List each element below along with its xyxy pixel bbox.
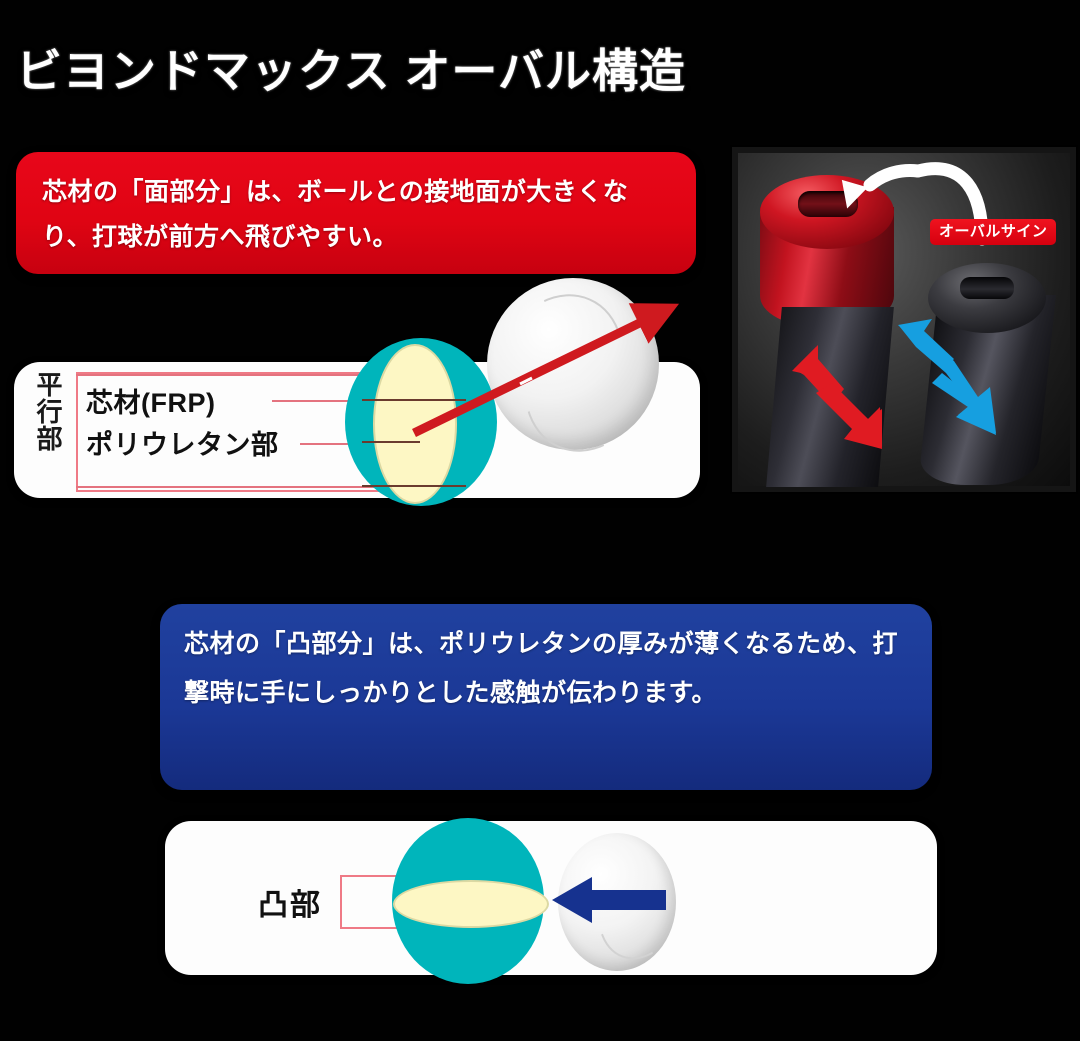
callout-convex-text: 芯材の「凸部分」は、ポリウレタンの厚みが薄くなるため、打撃時に手にしっかりとした… — [184, 620, 908, 718]
guide-tick-lower — [362, 485, 466, 487]
product-photo-panel: オーバルサイン — [732, 147, 1076, 492]
leader-line-bottom — [76, 486, 410, 488]
label-convex: 凸部 — [258, 880, 322, 924]
core-frp-ellipse-convex — [393, 880, 549, 928]
red-bat-oval-sign-slot — [798, 191, 858, 217]
callout-convex-section: 芯材の「凸部分」は、ポリウレタンの厚みが薄くなるため、打撃時に手にしっかりとした… — [160, 604, 932, 790]
label-polyurethane: ポリウレタン部 — [86, 423, 279, 462]
red-bat-shaft — [766, 307, 894, 487]
label-core-frp: 芯材(FRP) — [86, 381, 215, 420]
callout-flat-text: 芯材の「面部分」は、ボールとの接地面が大きくなり、打球が前方へ飛びやすい。 — [42, 170, 674, 260]
black-bat-oval-sign-slot — [960, 277, 1014, 299]
poster-root: ビヨンドマックス オーバル構造 芯材の「面部分」は、ボールとの接地面が大きくなり… — [0, 0, 1080, 1041]
impact-arrow-blue-icon — [548, 873, 668, 927]
callout-flat-section: 芯材の「面部分」は、ボールとの接地面が大きくなり、打球が前方へ飛びやすい。 — [16, 152, 696, 274]
diagram-flat-vertical-label: 平行部 — [28, 371, 68, 491]
trajectory-arrow-red-icon — [400, 288, 690, 448]
page-title: ビヨンドマックス オーバル構造 — [16, 40, 736, 106]
oval-sign-badge: オーバルサイン — [930, 219, 1056, 245]
